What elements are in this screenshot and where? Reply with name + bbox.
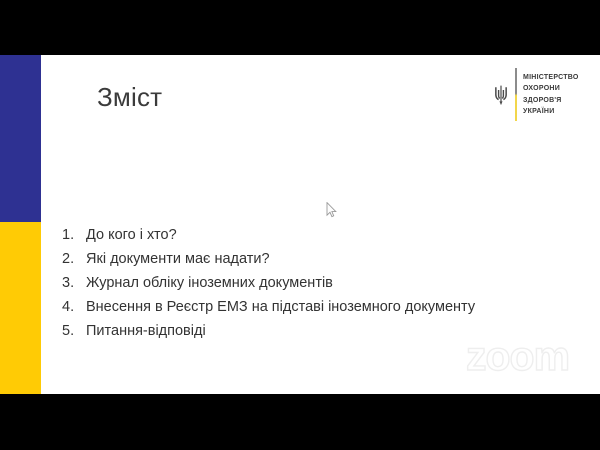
list-item-label: Журнал обліку іноземних документів [86, 275, 333, 291]
list-item: 3. Журнал обліку іноземних документів [62, 275, 475, 299]
list-item-label: Внесення в Реєстр ЕМЗ на підставі інозем… [86, 299, 475, 315]
logo-line-1: МІНІСТЕРСТВО [523, 72, 579, 84]
mouse-pointer-icon [326, 202, 337, 218]
list-item: 1. До кого і хто? [62, 227, 475, 251]
list-item-number: 4. [62, 299, 86, 315]
slide-accent-bar [0, 55, 41, 394]
letterbox-bottom [0, 394, 600, 450]
list-item: 4. Внесення в Реєстр ЕМЗ на підставі іно… [62, 299, 475, 323]
logo-line-4: УКРАЇНИ [523, 106, 579, 118]
zoom-watermark: zoom [466, 336, 569, 377]
accent-bar-yellow-segment [0, 222, 41, 394]
list-item: 5. Питання-відповіді [62, 323, 475, 347]
letterbox-top [0, 0, 600, 55]
accent-bar-blue-segment [0, 55, 41, 222]
list-item-label: Питання-відповіді [86, 323, 206, 339]
list-item-label: До кого і хто? [86, 227, 177, 243]
ministry-logo-text: МІНІСТЕРСТВО ОХОРОНИ ЗДОРОВ'Я УКРАЇНИ [523, 67, 579, 122]
zoom-meeting-screen: Зміст МІНІСТЕРСТВО ОХОРОНИ [0, 0, 600, 450]
list-item-number: 1. [62, 227, 86, 243]
list-item-number: 5. [62, 323, 86, 339]
logo-line-2: ОХОРОНИ [523, 83, 579, 95]
contents-list: 1. До кого і хто? 2. Які документи має н… [62, 227, 475, 347]
page-title: Зміст [97, 83, 162, 112]
ministry-logo: МІНІСТЕРСТВО ОХОРОНИ ЗДОРОВ'Я УКРАЇНИ [491, 67, 579, 122]
list-item-number: 3. [62, 275, 86, 291]
list-item-label: Які документи має надати? [86, 251, 270, 267]
list-item-number: 2. [62, 251, 86, 267]
ukrainian-trident-emblem [491, 67, 511, 122]
logo-line-3: ЗДОРОВ'Я [523, 95, 579, 107]
list-item: 2. Які документи має надати? [62, 251, 475, 275]
logo-divider [515, 68, 517, 121]
presentation-slide: Зміст МІНІСТЕРСТВО ОХОРОНИ [0, 55, 600, 394]
